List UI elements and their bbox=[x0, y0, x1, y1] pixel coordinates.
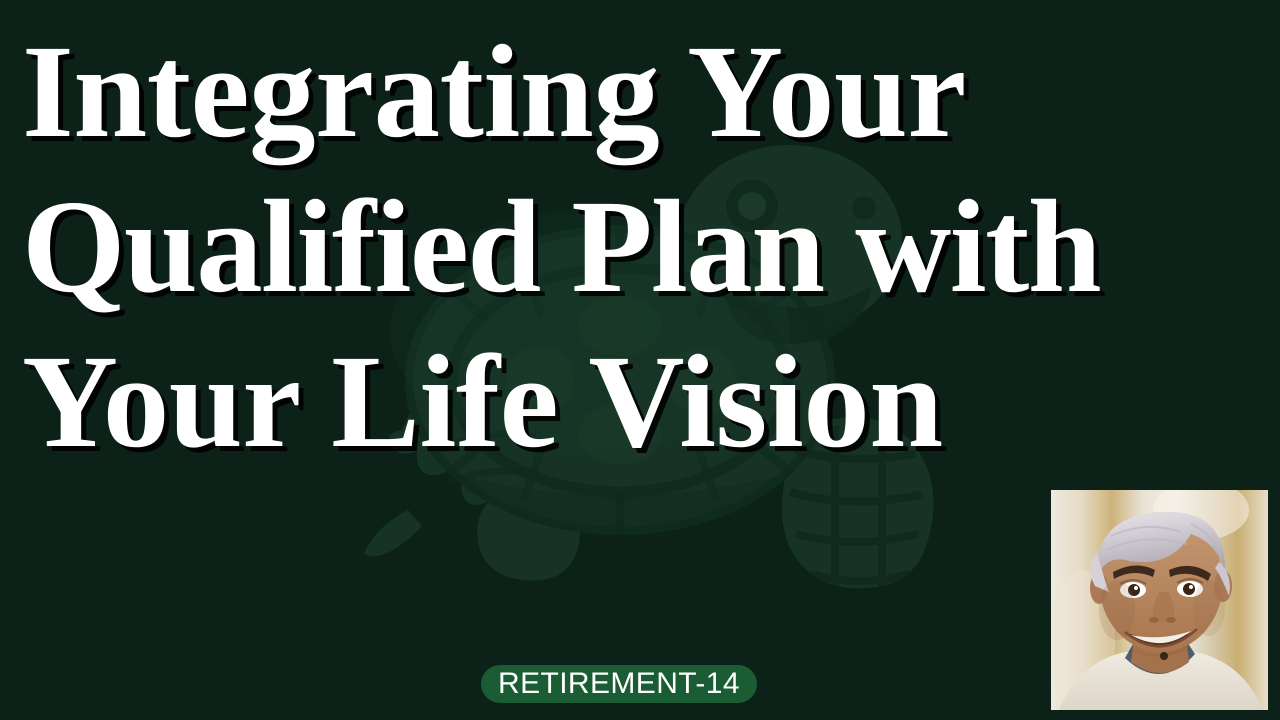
page-title: Integrating Your Qualified Plan with You… bbox=[22, 14, 1274, 479]
title-line-1: Integrating Your bbox=[22, 14, 1274, 169]
title-line-3: Your Life Vision bbox=[22, 324, 1274, 479]
presenter-portrait bbox=[1051, 490, 1268, 710]
title-line-2: Qualified Plan with bbox=[22, 169, 1274, 324]
thumbnail-slide: Integrating Your Qualified Plan with You… bbox=[0, 0, 1280, 720]
status-badge: RETIREMENT-14 bbox=[481, 665, 757, 703]
badge-label: RETIREMENT-14 bbox=[498, 669, 740, 699]
